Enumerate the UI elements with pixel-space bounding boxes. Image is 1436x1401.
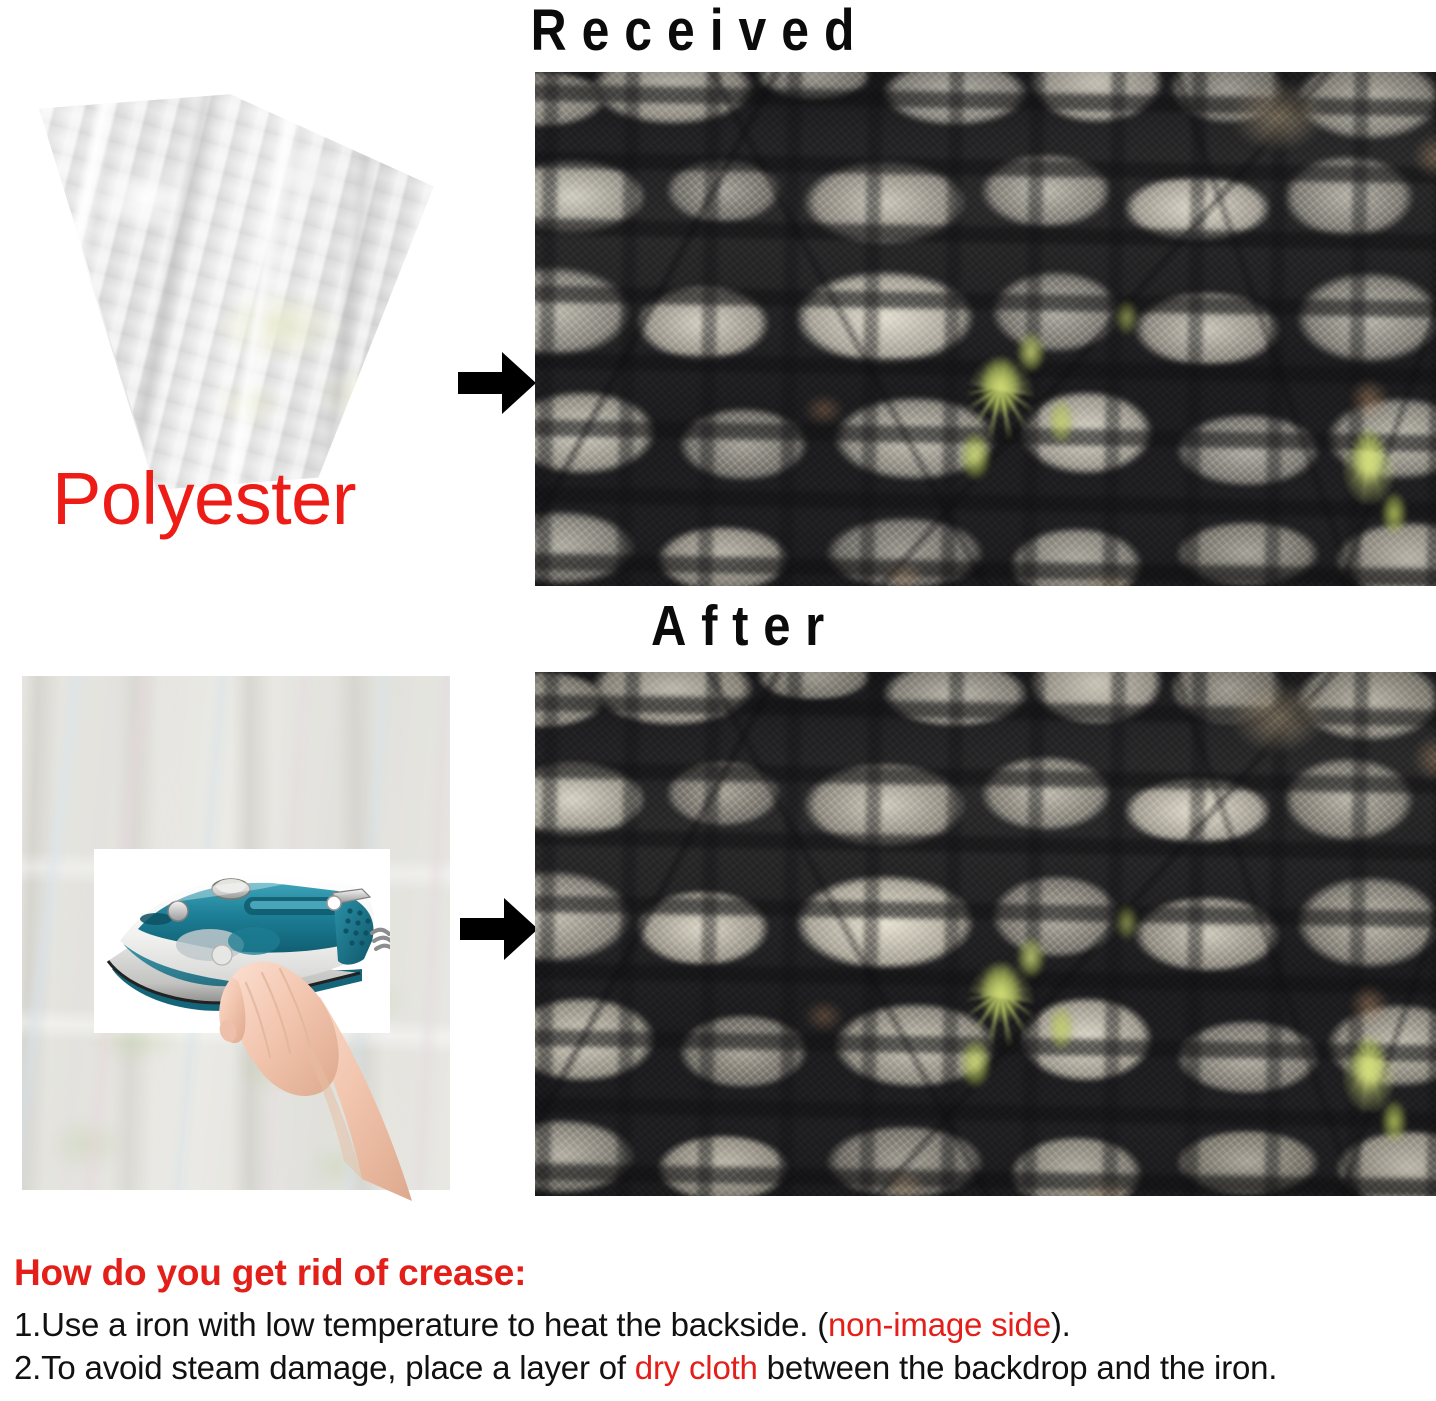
instruction-text: ). xyxy=(1051,1306,1071,1343)
received-backdrop-photo xyxy=(535,72,1436,586)
instruction-number: 1. xyxy=(14,1306,41,1343)
instruction-number: 2. xyxy=(14,1349,41,1386)
right-arrow-icon xyxy=(460,898,538,960)
steam-iron-icon xyxy=(94,849,390,1033)
care-instructions: How do you get rid of crease: 1.Use a ir… xyxy=(14,1252,1424,1390)
instructions-title: How do you get rid of crease: xyxy=(14,1252,1424,1294)
instruction-line: 1.Use a iron with low temperature to hea… xyxy=(14,1304,1424,1347)
polyester-label: Polyester xyxy=(52,462,356,536)
after-heading: After xyxy=(573,598,917,655)
fabric-creases xyxy=(18,84,438,494)
polyester-fabric-swatch xyxy=(18,84,438,494)
received-heading: Received xyxy=(468,2,932,60)
right-arrow-icon xyxy=(458,352,536,414)
instruction-text: between the backdrop and the iron. xyxy=(758,1349,1278,1386)
after-backdrop-photo xyxy=(535,672,1436,1196)
iron-photo-tile xyxy=(94,849,390,1033)
infographic-page: Received Polyester After xyxy=(0,0,1436,1401)
instruction-line: 2.To avoid steam damage, place a layer o… xyxy=(14,1347,1424,1390)
instruction-text: Use a iron with low temperature to heat … xyxy=(41,1306,828,1343)
rock-vignette xyxy=(535,72,1436,586)
instruction-text: To avoid steam damage, place a layer of xyxy=(41,1349,635,1386)
instruction-step-list: 1.Use a iron with low temperature to hea… xyxy=(14,1304,1424,1390)
rock-vignette xyxy=(535,672,1436,1196)
instruction-highlight: non-image side xyxy=(828,1306,1051,1343)
instruction-highlight: dry cloth xyxy=(635,1349,758,1386)
